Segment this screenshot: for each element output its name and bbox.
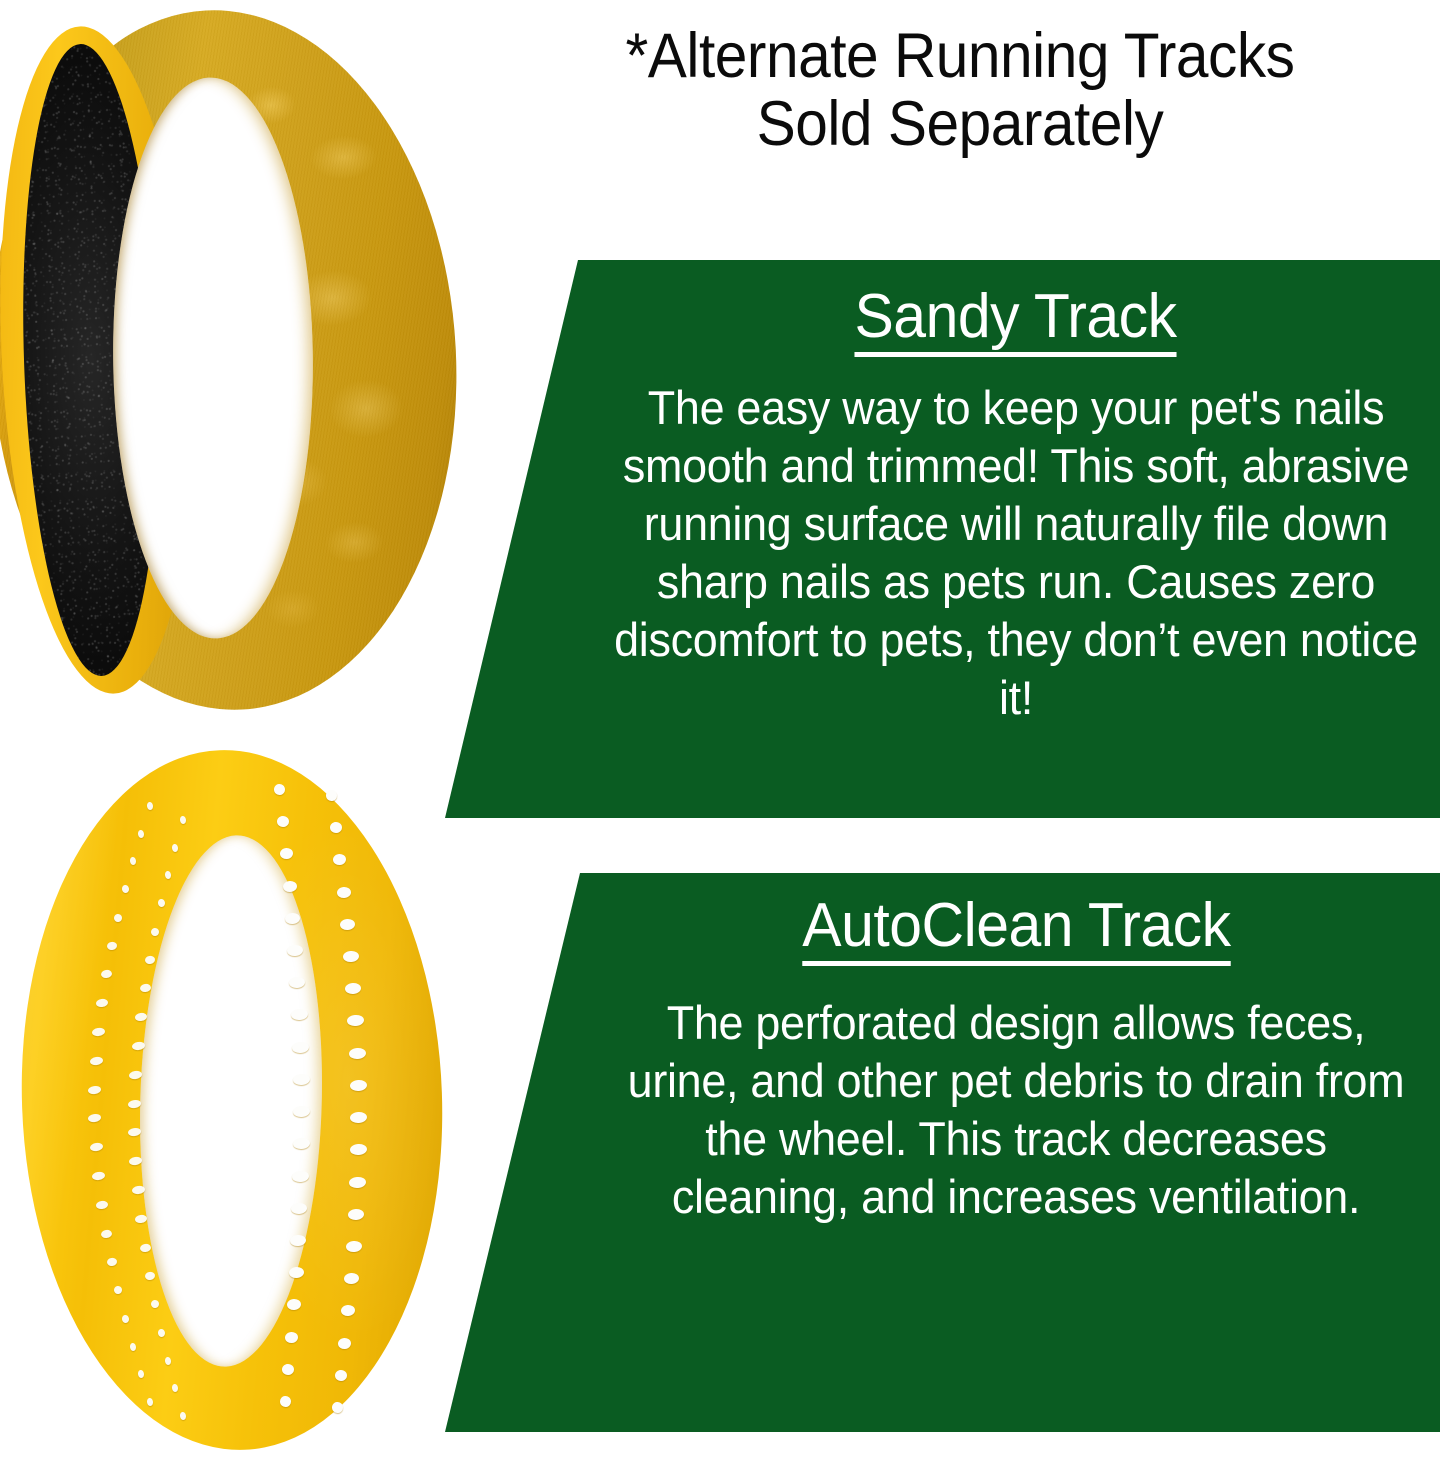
page-title: *Alternate Running Tracks Sold Separatel…: [560, 22, 1360, 158]
autoclean-track-panel: AutoClean Track The perforated design al…: [370, 873, 1440, 1432]
autoclean-track-panel-title: AutoClean Track: [802, 895, 1230, 966]
infographic-page: *Alternate Running Tracks Sold Separatel…: [0, 0, 1440, 1475]
autoclean-track-panel-body: The perforated design allows feces, urin…: [624, 994, 1407, 1226]
sandy-track-ring: [0, 4, 460, 719]
sandy-track-photo: [0, 4, 460, 719]
sandy-track-panel-title: Sandy Track: [855, 286, 1177, 357]
autoclean-track-photo: [22, 750, 452, 1460]
sandy-track-panel-body: The easy way to keep your pet's nails sm…: [596, 379, 1436, 727]
sandy-track-panel: Sandy Track The easy way to keep your pe…: [370, 260, 1440, 818]
